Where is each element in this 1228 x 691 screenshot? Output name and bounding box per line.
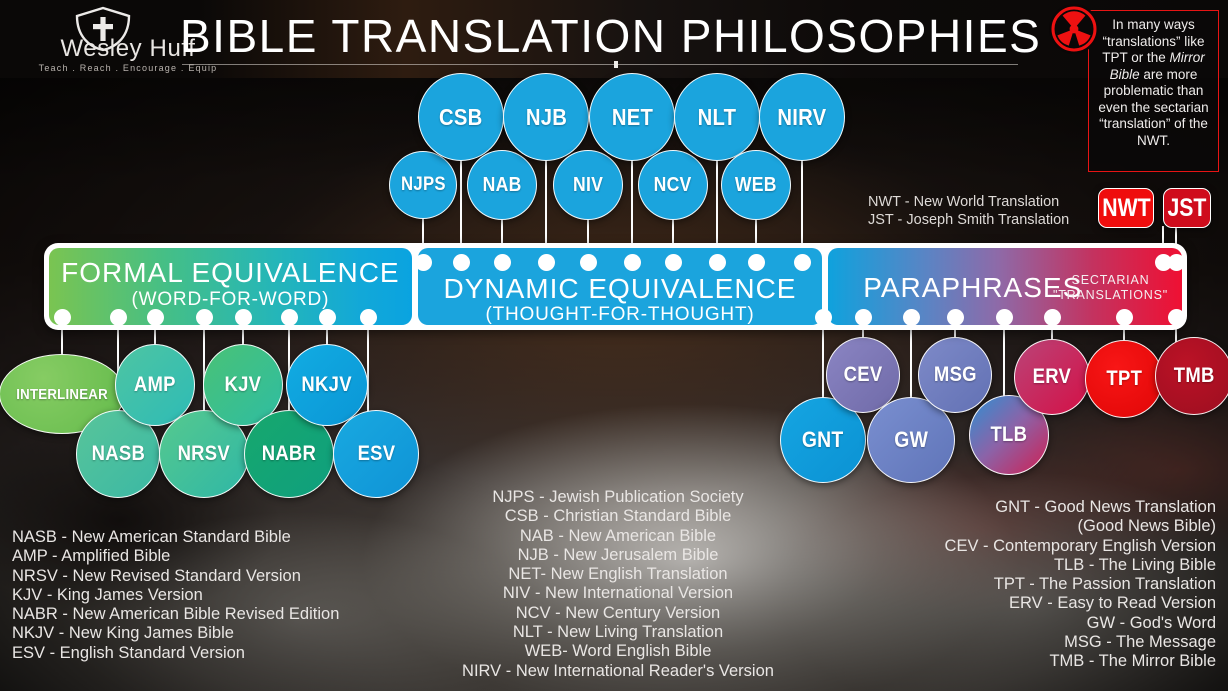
spectrum-node-dot bbox=[147, 309, 164, 326]
spectrum-node-dot bbox=[748, 254, 765, 271]
page-title: BIBLE TRANSLATION PHILOSOPHIES bbox=[180, 10, 1020, 62]
connector-line bbox=[1003, 321, 1005, 401]
legend-right-item: (Good News Bible) bbox=[945, 517, 1216, 536]
radioactive-icon bbox=[1048, 3, 1100, 55]
connector-line bbox=[910, 321, 912, 403]
translation-bubble-njb[interactable]: NJB bbox=[503, 73, 589, 161]
translation-bubble-msg[interactable]: MSG bbox=[918, 337, 992, 413]
bubble-label: GNT bbox=[802, 427, 844, 453]
bubble-label: GW bbox=[894, 427, 928, 453]
spectrum-node-dot bbox=[815, 309, 832, 326]
bubble-label: NASB bbox=[91, 442, 144, 466]
legend-left-item: NASB - New American Standard Bible bbox=[12, 528, 339, 547]
tag-label: JST bbox=[1168, 194, 1207, 223]
spectrum-node-dot bbox=[794, 254, 811, 271]
legend-right-item: ERV - Easy to Read Version bbox=[945, 594, 1216, 613]
translation-bubble-web[interactable]: WEB bbox=[721, 150, 791, 220]
sectarian-translations-label: SECTARIAN "TRANSLATIONS" bbox=[1053, 273, 1168, 303]
spectrum-node-dot bbox=[855, 309, 872, 326]
translation-bubble-njps[interactable]: NJPS bbox=[389, 151, 457, 219]
translation-bubble-erv[interactable]: ERV bbox=[1014, 339, 1090, 415]
legend-center-item: CSB - Christian Standard Bible bbox=[400, 507, 836, 526]
spectrum-node-dot bbox=[1044, 309, 1061, 326]
legend-formal-equivalence: NASB - New American Standard BibleAMP - … bbox=[12, 528, 339, 663]
legend-left-item: NABR - New American Bible Revised Editio… bbox=[12, 605, 339, 624]
legend-center-item: NET- New English Translation bbox=[400, 565, 836, 584]
legend-center-item: WEB- Word English Bible bbox=[400, 642, 836, 661]
sectarian-key: NWT - New World Translation JST - Joseph… bbox=[868, 193, 1069, 229]
tag-label: NWT bbox=[1102, 194, 1150, 223]
sectarian-label-line-2: "TRANSLATIONS" bbox=[1053, 288, 1168, 303]
connector-line bbox=[203, 321, 205, 416]
sectarian-label-line-1: SECTARIAN bbox=[1053, 273, 1168, 288]
spectrum-node-dot bbox=[709, 254, 726, 271]
bubble-label: INTERLINEAR bbox=[16, 386, 108, 403]
legend-right-item: CEV - Contemporary English Version bbox=[945, 537, 1216, 556]
bar-paraphrases-title: PARAPHRASES bbox=[863, 272, 1082, 304]
bubble-label: CEV bbox=[844, 363, 883, 387]
legend-right-item: TPT - The Passion Translation bbox=[945, 575, 1216, 594]
legend-paraphrases: GNT - Good News Translation(Good News Bi… bbox=[945, 498, 1216, 672]
spectrum-node-dot bbox=[319, 309, 336, 326]
legend-right-item: GW - God's Word bbox=[945, 614, 1216, 633]
infographic-canvas: Wesley Huff Teach . Reach . Encourage . … bbox=[0, 0, 1228, 691]
legend-center-item: NLT - New Living Translation bbox=[400, 623, 836, 642]
title-divider bbox=[182, 64, 1018, 65]
legend-center-item: NCV - New Century Version bbox=[400, 604, 836, 623]
bar-formal-subtitle: (WORD-FOR-WORD) bbox=[49, 289, 412, 311]
spectrum-node-dot bbox=[1168, 254, 1185, 271]
translation-bubble-nab[interactable]: NAB bbox=[467, 150, 537, 220]
bubble-label: TLB bbox=[991, 423, 1028, 447]
bubble-label: ERV bbox=[1033, 365, 1071, 389]
bubble-label: NIV bbox=[573, 174, 603, 197]
legend-left-item: NRSV - New Revised Standard Version bbox=[12, 567, 339, 586]
legend-center-item: NIRV - New International Reader's Versio… bbox=[400, 662, 836, 681]
bubble-label: MSG bbox=[934, 363, 977, 387]
legend-right-item: TLB - The Living Bible bbox=[945, 556, 1216, 575]
bubble-label: NJPS bbox=[401, 174, 446, 196]
bubble-label: TMB bbox=[1174, 364, 1215, 388]
spectrum-node-dot bbox=[1116, 309, 1133, 326]
bubble-label: WEB bbox=[735, 174, 777, 197]
bar-dynamic-subtitle: (THOUGHT-FOR-THOUGHT) bbox=[418, 304, 823, 326]
legend-dynamic-equivalence: NJPS - Jewish Publication SocietyCSB - C… bbox=[400, 488, 836, 681]
spectrum-node-dot bbox=[538, 254, 555, 271]
spectrum-node-dot bbox=[494, 254, 511, 271]
bubble-label: NIRV bbox=[777, 104, 826, 131]
translation-bubble-esv[interactable]: ESV bbox=[333, 410, 419, 498]
bubble-label: NABR bbox=[262, 442, 316, 466]
spectrum-node-dot bbox=[235, 309, 252, 326]
translation-bubble-csb[interactable]: CSB bbox=[418, 73, 504, 161]
warning-callout: In many ways “translations” like TPT or … bbox=[1088, 10, 1219, 172]
translation-bubble-tmb[interactable]: TMB bbox=[1155, 337, 1228, 415]
bubble-label: NKJV bbox=[302, 373, 352, 397]
legend-left-item: ESV - English Standard Version bbox=[12, 644, 339, 663]
connector-line bbox=[822, 321, 824, 403]
translation-bubble-tpt[interactable]: TPT bbox=[1085, 340, 1163, 418]
connector-line bbox=[367, 321, 369, 416]
spectrum-node-dot bbox=[54, 309, 71, 326]
spectrum-node-dot bbox=[947, 309, 964, 326]
translation-bubble-ncv[interactable]: NCV bbox=[638, 150, 708, 220]
bar-dynamic-title: DYNAMIC EQUIVALENCE bbox=[418, 273, 823, 305]
translation-bubble-nlt[interactable]: NLT bbox=[674, 73, 760, 161]
bubble-label: NET bbox=[611, 104, 652, 131]
bubble-label: ESV bbox=[357, 442, 395, 466]
spectrum-node-dot bbox=[415, 254, 432, 271]
spectrum-node-dot bbox=[624, 254, 641, 271]
spectrum-node-dot bbox=[580, 254, 597, 271]
bubble-label: TPT bbox=[1106, 367, 1142, 391]
spectrum-node-dot bbox=[196, 309, 213, 326]
bubble-label: NAB bbox=[483, 174, 522, 197]
spectrum-node-dot bbox=[110, 309, 127, 326]
legend-center-item: NJPS - Jewish Publication Society bbox=[400, 488, 836, 507]
bubble-label: NRSV bbox=[178, 442, 230, 466]
bubble-label: NCV bbox=[654, 174, 692, 197]
bubble-label: NJB bbox=[525, 104, 566, 131]
translation-bubble-niv[interactable]: NIV bbox=[553, 150, 623, 220]
translation-bubble-net[interactable]: NET bbox=[589, 73, 675, 161]
legend-right-item: TMB - The Mirror Bible bbox=[945, 652, 1216, 671]
spectrum-node-dot bbox=[903, 309, 920, 326]
bubble-label: KJV bbox=[225, 373, 262, 397]
spectrum-node-dot bbox=[996, 309, 1013, 326]
sectarian-tag-jst[interactable]: JST bbox=[1163, 188, 1211, 228]
spectrum-bars: FORMAL EQUIVALENCE (WORD-FOR-WORD) DYNAM… bbox=[44, 243, 1187, 330]
title-tick-mark bbox=[614, 61, 618, 68]
spectrum-node-dot bbox=[281, 309, 298, 326]
legend-left-item: NKJV - New King James Bible bbox=[12, 624, 339, 643]
bubble-label: NLT bbox=[698, 104, 737, 131]
sectarian-tag-nwt[interactable]: NWT bbox=[1098, 188, 1154, 228]
bubble-label: CSB bbox=[439, 104, 483, 131]
legend-center-item: NAB - New American Bible bbox=[400, 527, 836, 546]
bar-formal-title: FORMAL EQUIVALENCE bbox=[49, 257, 412, 289]
legend-left-item: AMP - Amplified Bible bbox=[12, 547, 339, 566]
sectarian-key-line-1: NWT - New World Translation bbox=[868, 193, 1069, 211]
translation-bubble-nirv[interactable]: NIRV bbox=[759, 73, 845, 161]
spectrum-node-dot bbox=[1168, 309, 1185, 326]
spectrum-node-dot bbox=[665, 254, 682, 271]
spectrum-node-dot bbox=[453, 254, 470, 271]
bar-formal-equivalence: FORMAL EQUIVALENCE (WORD-FOR-WORD) bbox=[49, 248, 412, 325]
sectarian-key-line-2: JST - Joseph Smith Translation bbox=[868, 211, 1069, 229]
legend-center-item: NJB - New Jerusalem Bible bbox=[400, 546, 836, 565]
legend-left-item: KJV - King James Version bbox=[12, 586, 339, 605]
spectrum-node-dot bbox=[360, 309, 377, 326]
legend-right-item: MSG - The Message bbox=[945, 633, 1216, 652]
legend-right-item: GNT - Good News Translation bbox=[945, 498, 1216, 517]
legend-center-item: NIV - New International Version bbox=[400, 584, 836, 603]
bubble-label: AMP bbox=[134, 373, 176, 397]
